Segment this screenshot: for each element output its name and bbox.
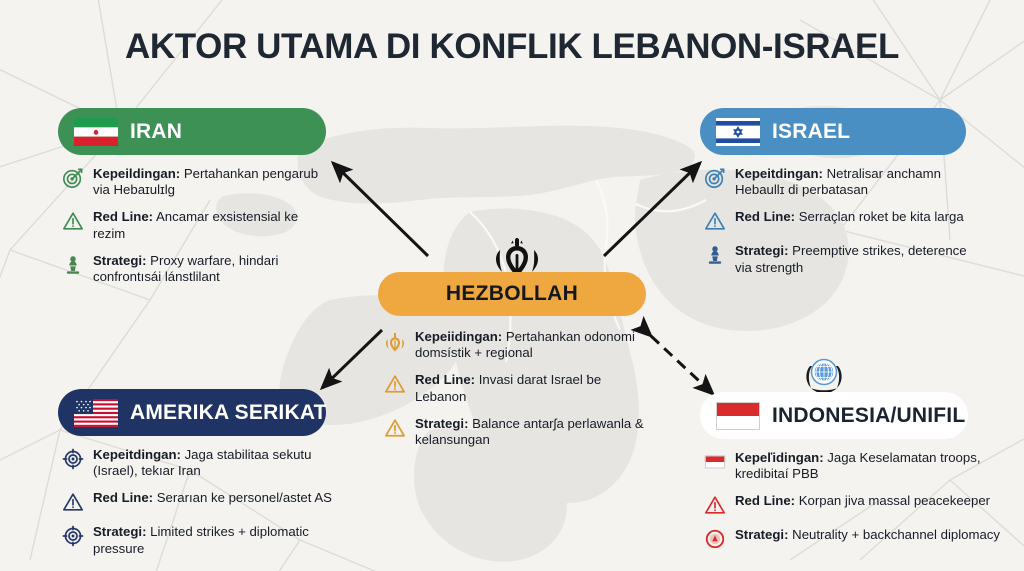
actor-card-hezbollah: HEZBOLLAH Kepeiidingan: Pertahankan odon… xyxy=(378,272,646,459)
indonesia-flag-icon xyxy=(704,451,726,473)
israel-header[interactable]: ISRAEL xyxy=(700,108,966,155)
hezbollah-row-kepentingan-label: Kepeiidingan: xyxy=(415,329,502,344)
israel-row-kepentingan: Kepeitdingan: Netralisar anchamn Hebaull… xyxy=(704,166,980,198)
indonesia-row-kepentingan-text: Kepeľidingan: Jaga Keselamatan troops, k… xyxy=(735,450,1003,482)
warning-triangle-icon xyxy=(704,494,726,516)
indonesia-row-kepentingan: Kepeľidingan: Jaga Keselamatan troops, k… xyxy=(704,450,1010,482)
israel-row-strategi: Strategi: Preemptive strikes, deterence … xyxy=(704,243,980,275)
usa-row-redline-label: Red Line: xyxy=(93,490,153,505)
usa-row-strategi-text: Strategi: Limited strikes + diplomatic p… xyxy=(93,524,358,556)
amerika-serikat-rows: Kepeitdingan: Jaga stabilitaa sekutu (Is… xyxy=(58,447,358,557)
iran-flag-icon xyxy=(74,118,118,146)
iran-header[interactable]: IRAN xyxy=(58,108,326,155)
israel-row-strategi-label: Strategi: xyxy=(735,243,789,258)
crosshair-icon xyxy=(62,448,84,470)
israel-row-redline-label: Red Line: xyxy=(735,209,795,224)
usa-row-strategi-label: Strategi: xyxy=(93,524,147,539)
usa-row-kepentingan-label: Kepeitdingan: xyxy=(93,447,181,462)
chess-pawn-icon xyxy=(704,244,726,266)
israel-row-kepentingan-text: Kepeitdingan: Netralisar anchamn Hebaull… xyxy=(735,166,980,198)
indonesia-unifil-rows: Kepeľidingan: Jaga Keselamatan troops, k… xyxy=(700,450,1010,550)
israel-row-redline-text: Red Line: Serraçlan roket be kita larga xyxy=(735,209,964,225)
iran-row-redline-text: Red Line: Ancamar exsistensial ke rezim xyxy=(93,209,334,241)
hezbollah-rows: Kepeiidingan: Pertahankan odonomi domsís… xyxy=(378,329,646,448)
indonesia-row-redline-value: Korpan jiva massal peacekeeper xyxy=(795,493,990,508)
target-icon xyxy=(62,167,84,189)
hezbollah-row-kepentingan: Kepeiidingan: Pertahankan odonomi domsís… xyxy=(384,329,646,361)
chess-pawn-icon xyxy=(62,254,84,276)
hezbollah-row-strategi: Strategi: Balance antarʃa perlawanla & k… xyxy=(384,416,646,448)
hezbollah-row-redline-text: Red Line: Invasi darat Israel ƅe Lebanon xyxy=(415,372,646,404)
warning-triangle-icon xyxy=(704,210,726,232)
israel-row-strategi-text: Strategi: Preemptive strikes, deterence … xyxy=(735,243,980,275)
usa-flag-icon xyxy=(74,399,118,427)
actor-card-israel: ISRAEL Kepeitdingan: Netralisar anchamn … xyxy=(700,108,980,287)
hezbollah-row-strategi-label: Strategi: xyxy=(415,416,469,431)
indonesia-unifil-title: INDONESIA/UNIFIL xyxy=(772,404,965,428)
israel-row-redline-value: Serraçlan roket be kita larga xyxy=(795,209,964,224)
warning-triangle-icon xyxy=(384,373,406,395)
iran-row-redline: Red Line: Ancamar exsistensial ke rezim xyxy=(62,209,334,241)
amerika-serikat-header[interactable]: AMERIKA SERIKAT xyxy=(58,389,326,436)
usa-row-strategi: Strategi: Limited strikes + diplomatic p… xyxy=(62,524,358,556)
actor-card-indonesia-unifil: INDONESIA/UNIFIL Kepeľidingan: Jaga Kese… xyxy=(700,392,1010,561)
iran-title: IRAN xyxy=(130,120,182,144)
indonesia-row-strategi-value: Neutrality + backchannel diplomacy xyxy=(789,527,1000,542)
iran-row-strategi-text: Strategi: Proxy warfare, hindari confron… xyxy=(93,253,334,285)
usa-row-kepentingan-text: Kepeitdingan: Jaga stabilitaa sekutu (Is… xyxy=(93,447,339,479)
indonesia-row-redline-label: Red Line: xyxy=(735,493,795,508)
iran-rows: Kepeildingan: Pertahankan pengarub via H… xyxy=(58,166,334,285)
israel-row-redline: Red Line: Serraçlan roket be kita larga xyxy=(704,209,980,232)
indonesia-flag-icon xyxy=(716,402,760,430)
iran-row-strategi-label: Strategi: xyxy=(93,253,147,268)
actor-card-amerika-serikat: AMERIKA SERIKAT Kepeitdingan: Jaga stabi… xyxy=(58,389,358,568)
red-circle-icon xyxy=(704,528,726,550)
iran-row-strategi: Strategi: Proxy warfare, hindari confron… xyxy=(62,253,334,285)
indonesia-row-redline: Red Line: Korpan jiva massal peacekeeper xyxy=(704,493,1010,516)
crosshair-icon xyxy=(62,525,84,547)
usa-row-kepentingan: Kepeitdingan: Jaga stabilitaa sekutu (Is… xyxy=(62,447,358,479)
amerika-serikat-title: AMERIKA SERIKAT xyxy=(130,401,327,425)
indonesia-unifil-header[interactable]: INDONESIA/UNIFIL xyxy=(700,392,968,439)
usa-row-redline: Red Line: Serarıan ke personel/astet AS xyxy=(62,490,358,513)
israel-rows: Kepeitdingan: Netralisar anchamn Hebaull… xyxy=(700,166,980,276)
hezbollah-row-strategi-text: Strategi: Balance antarʃa perlawanla & k… xyxy=(415,416,646,448)
hezbollah-title: HEZBOLLAH xyxy=(446,282,578,306)
israel-title: ISRAEL xyxy=(772,120,850,144)
iran-row-kepentingan-text: Kepeildingan: Pertahankan pengarub via H… xyxy=(93,166,334,198)
iran-emblem-icon xyxy=(384,330,406,352)
hezbollah-row-redline-label: Red Line: xyxy=(415,372,475,387)
actor-card-iran: IRAN Kepeildingan: Pertahankan pengarub … xyxy=(58,108,334,296)
warning-triangle-icon xyxy=(62,491,84,513)
iran-row-redline-label: Red Line: xyxy=(93,209,153,224)
indonesia-row-redline-text: Red Line: Korpan jiva massal peacekeeper xyxy=(735,493,990,509)
warning-triangle-icon xyxy=(62,210,84,232)
page-title: AKTOR UTAMA DI KONFLIK LEBANON-ISRAEL xyxy=(0,27,1024,67)
warning-triangle-icon xyxy=(384,417,406,439)
hezbollah-row-kepentingan-text: Kepeiidingan: Pertahankan odonomi domsís… xyxy=(415,329,646,361)
iran-row-kepentingan-label: Kepeildingan: xyxy=(93,166,180,181)
indonesia-row-kepentingan-label: Kepeľidingan: xyxy=(735,450,824,465)
indonesia-row-strategi-label: Strategi: xyxy=(735,527,789,542)
indonesia-row-strategi-text: Strategi: Neutrality + backchannel diplo… xyxy=(735,527,1000,543)
un-emblem-icon xyxy=(800,352,848,396)
israel-row-kepentingan-label: Kepeitdingan: xyxy=(735,166,823,181)
target-icon xyxy=(704,167,726,189)
hezbollah-header[interactable]: HEZBOLLAH xyxy=(378,272,646,316)
israel-flag-icon xyxy=(716,118,760,146)
hezbollah-row-redline: Red Line: Invasi darat Israel ƅe Lebanon xyxy=(384,372,646,404)
indonesia-row-strategi: Strategi: Neutrality + backchannel diplo… xyxy=(704,527,1010,550)
iran-row-kepentingan: Kepeildingan: Pertahankan pengarub via H… xyxy=(62,166,334,198)
usa-row-redline-text: Red Line: Serarıan ke personel/astet AS xyxy=(93,490,332,506)
usa-row-redline-value: Serarıan ke personel/astet AS xyxy=(153,490,332,505)
